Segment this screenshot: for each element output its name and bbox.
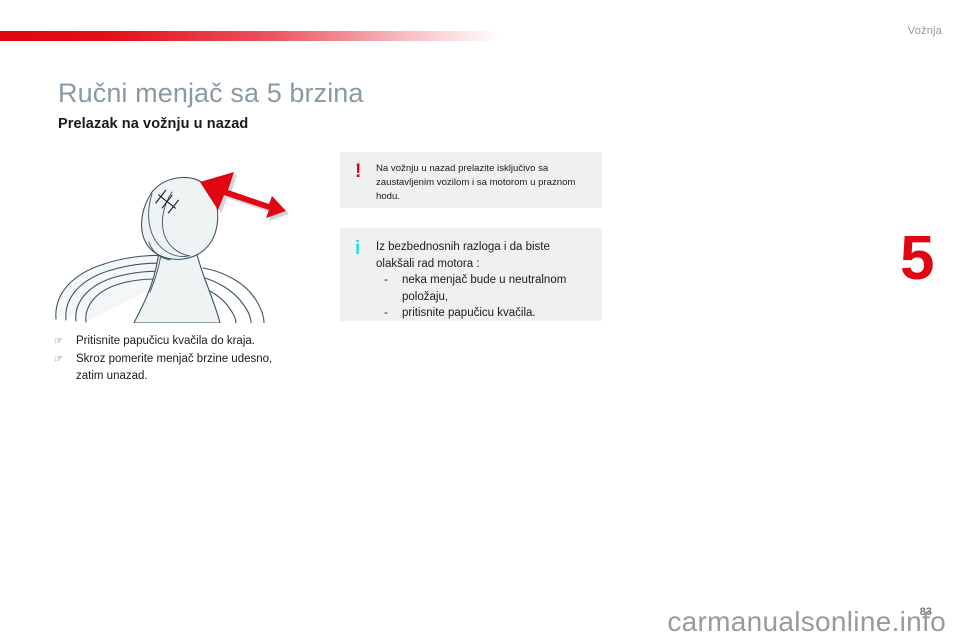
info-callout-body: Iz bezbednosnih razloga i da biste olakš… (376, 239, 590, 311)
dash-bullet: - (376, 272, 402, 305)
watermark: carmanualsonline.info (667, 606, 946, 638)
manual-page: Vožnja 5 Ručni menjač sa 5 brzina Prelaz… (0, 0, 960, 640)
dash-bullet: - (376, 305, 402, 322)
chapter-number: 5 (900, 228, 933, 290)
header-accent-rule (0, 31, 500, 41)
page-title: Ručni menjač sa 5 brzina (58, 78, 364, 109)
warning-callout-body: Na vožnju u nazad prelazite isključivo s… (376, 162, 590, 198)
info-callout: i Iz bezbednosnih razloga i da biste ola… (340, 228, 602, 321)
list-item: - neka menjač bude u neutralnom položaju… (376, 272, 590, 305)
step-list: ☞ Pritisnite papučicu kvačila do kraja. … (52, 333, 342, 386)
section-label: Vožnja (908, 25, 942, 37)
info-item-text: neka menjač bude u neutralnom položaju, (402, 272, 590, 305)
sub-title: Prelazak na vožnju u nazad (58, 116, 248, 132)
list-item: - pritisnite papučicu kvačila. (376, 305, 590, 322)
info-item-text: pritisnite papučicu kvačila. (402, 305, 590, 322)
step-text: Pritisnite papučicu kvačila do kraja. (76, 333, 255, 350)
list-item: ☞ Pritisnite papučicu kvačila do kraja. (52, 333, 342, 350)
info-intro-text: Iz bezbednosnih razloga i da biste olakš… (376, 239, 590, 272)
warning-callout: ! Na vožnju u nazad prelazite isključivo… (340, 152, 602, 208)
information-icon: i (350, 239, 376, 311)
warning-text: Na vožnju u nazad prelazite isključivo s… (376, 162, 590, 204)
warning-exclamation-icon: ! (350, 162, 376, 198)
list-item: ☞ Skroz pomerite menjač brzine udesno, z… (52, 351, 342, 385)
step-text: Skroz pomerite menjač brzine udesno, zat… (76, 351, 272, 385)
pointing-hand-icon: ☞ (52, 333, 76, 350)
pointing-hand-icon: ☞ (52, 351, 76, 368)
gear-shift-lever-illustration (48, 148, 333, 323)
